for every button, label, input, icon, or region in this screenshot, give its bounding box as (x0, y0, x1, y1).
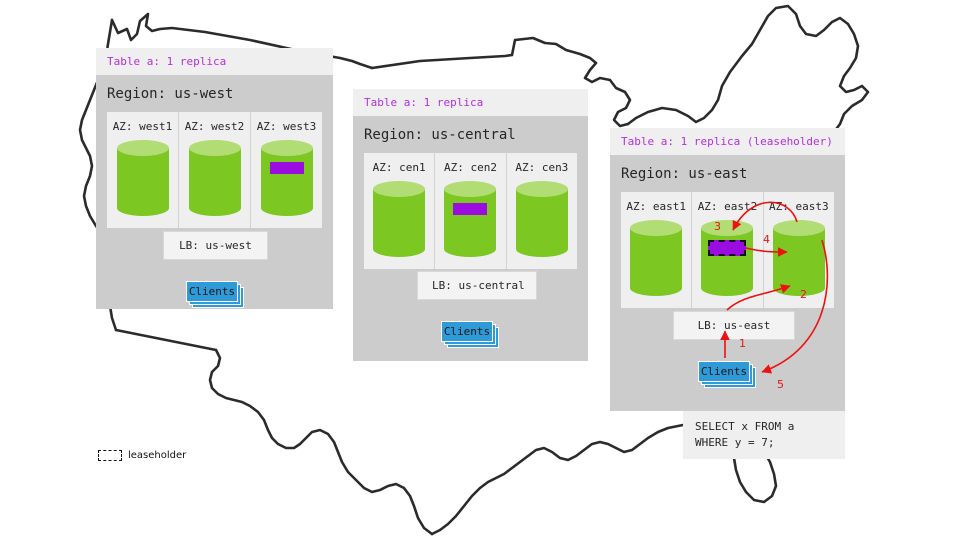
load-balancer-us-west[interactable]: LB: us-west (163, 231, 268, 260)
cylinder-body (516, 189, 568, 249)
region-header-us-west: Table a: 1 replica (96, 48, 333, 75)
legend: leaseholder (98, 450, 186, 461)
clients-card-front[interactable]: Clients (698, 361, 750, 382)
sql-query-box: SELECT x FROM a WHERE y = 7; (683, 411, 845, 459)
leaseholder-replica-badge-east2 (708, 240, 746, 256)
az-cell-cen2[interactable]: AZ: cen2 (435, 153, 506, 269)
az-cell-cen1[interactable]: AZ: cen1 (364, 153, 435, 269)
cylinder-top (117, 140, 169, 156)
node-cylinder-east3[interactable] (773, 220, 825, 296)
cylinder-top (773, 220, 825, 236)
cylinder-body (701, 228, 753, 288)
cylinder-top (261, 140, 313, 156)
cylinder-body (261, 148, 313, 208)
clients-stack-us-west[interactable]: Clients (186, 281, 244, 305)
node-cylinder-west1[interactable] (117, 140, 169, 216)
region-header-us-east: Table a: 1 replica (leaseholder) (610, 128, 845, 155)
arrow-label-4: 4 (763, 233, 770, 246)
az-cell-east2[interactable]: AZ: east2 (692, 192, 763, 308)
clients-stack-us-east[interactable]: Clients (698, 361, 756, 385)
az-label-east2: AZ: east2 (692, 200, 762, 213)
region-title-us-east: Region: us-east (610, 155, 845, 192)
region-title-us-central: Region: us-central (353, 116, 588, 153)
node-cylinder-cen2[interactable] (444, 181, 496, 257)
az-label-west3: AZ: west3 (251, 120, 322, 133)
cylinder-body (630, 228, 682, 288)
cylinder-top (189, 140, 241, 156)
az-row-us-west: AZ: west1 AZ: west2 AZ (107, 112, 322, 228)
legend-label: leaseholder (128, 450, 186, 461)
replica-badge-west3 (270, 162, 304, 174)
az-cell-west3[interactable]: AZ: west3 (251, 112, 322, 228)
arrow-label-2: 2 (800, 288, 807, 301)
az-cell-cen3[interactable]: AZ: cen3 (507, 153, 577, 269)
node-cylinder-west2[interactable] (189, 140, 241, 216)
az-label-cen2: AZ: cen2 (435, 161, 505, 174)
cylinder-body (373, 189, 425, 249)
cylinder-body (117, 148, 169, 208)
region-header-us-central: Table a: 1 replica (353, 89, 588, 116)
load-balancer-us-east[interactable]: LB: us-east (673, 311, 795, 340)
az-row-us-central: AZ: cen1 AZ: cen2 (364, 153, 577, 269)
az-label-east3: AZ: east3 (764, 200, 834, 213)
az-label-west2: AZ: west2 (179, 120, 250, 133)
arrow-label-5: 5 (777, 378, 784, 391)
az-cell-east1[interactable]: AZ: east1 (621, 192, 692, 308)
node-cylinder-west3[interactable] (261, 140, 313, 216)
az-label-cen3: AZ: cen3 (507, 161, 577, 174)
diagram-canvas: Table a: 1 replica Region: us-west AZ: w… (0, 0, 960, 540)
cylinder-top (373, 181, 425, 197)
cylinder-body (189, 148, 241, 208)
cylinder-body (773, 228, 825, 288)
az-label-cen1: AZ: cen1 (364, 161, 434, 174)
clients-card-front[interactable]: Clients (441, 321, 493, 342)
az-cell-east3[interactable]: AZ: east3 (764, 192, 834, 308)
region-title-us-west: Region: us-west (96, 75, 333, 112)
node-cylinder-cen1[interactable] (373, 181, 425, 257)
load-balancer-us-central[interactable]: LB: us-central (417, 271, 537, 300)
cylinder-top (516, 181, 568, 197)
node-cylinder-east1[interactable] (630, 220, 682, 296)
cylinder-top (630, 220, 682, 236)
clients-stack-us-central[interactable]: Clients (441, 321, 499, 345)
clients-card-front[interactable]: Clients (186, 281, 238, 302)
az-label-west1: AZ: west1 (107, 120, 178, 133)
az-cell-west2[interactable]: AZ: west2 (179, 112, 251, 228)
replica-badge-cen2 (453, 203, 487, 215)
arrow-label-1: 1 (739, 337, 746, 350)
cylinder-body (444, 189, 496, 249)
node-cylinder-cen3[interactable] (516, 181, 568, 257)
az-label-east1: AZ: east1 (621, 200, 691, 213)
arrow-label-3: 3 (714, 220, 721, 233)
region-body-us-west: Region: us-west AZ: west1 AZ: west2 (96, 75, 333, 309)
leaseholder-swatch-icon (98, 450, 122, 461)
region-panel-us-west: Table a: 1 replica Region: us-west AZ: w… (96, 48, 333, 309)
az-cell-west1[interactable]: AZ: west1 (107, 112, 179, 228)
node-cylinder-east2[interactable] (701, 220, 753, 296)
